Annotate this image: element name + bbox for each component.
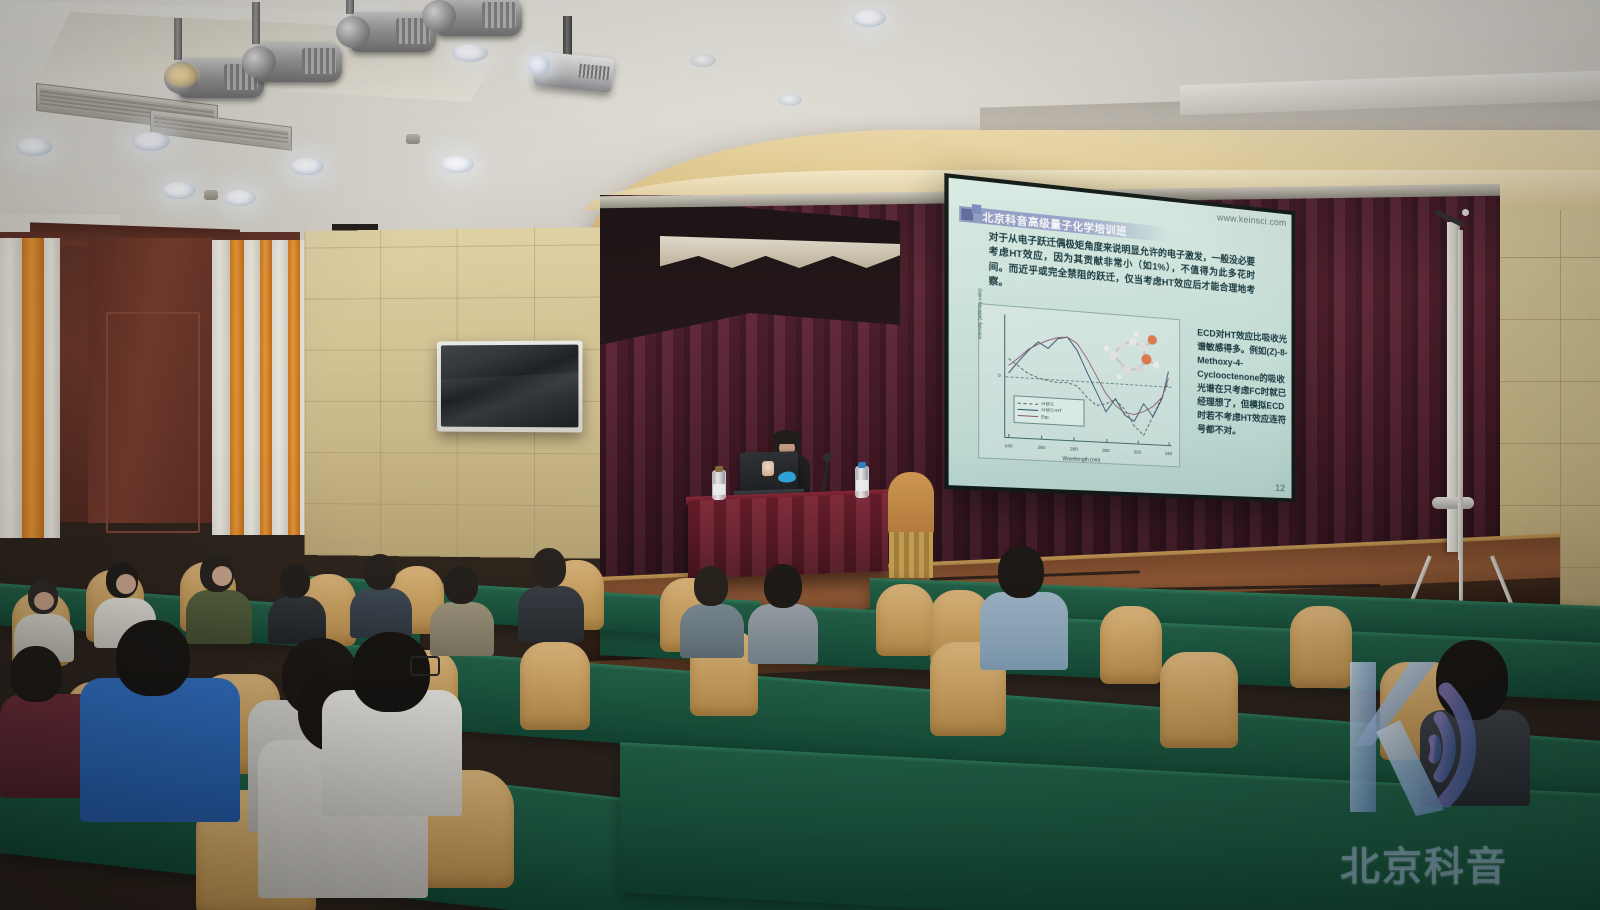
ceiling-downlight: [690, 54, 716, 67]
audience-chair[interactable]: [1290, 606, 1352, 688]
ceiling-downlight: [440, 156, 474, 173]
ceiling-downlight: [290, 158, 324, 175]
audience-chair[interactable]: [1100, 606, 1162, 684]
banner-square-icon: [972, 204, 981, 214]
ceiling-downlight: [16, 138, 52, 156]
ceiling-speaker: [204, 190, 218, 200]
slide-right-paragraph: ECD对HT效应比吸收光谱敏感得多。例如(Z)-8-Methoxy-4-Cycl…: [1197, 327, 1288, 441]
ceiling-downlight: [132, 132, 170, 151]
audience-person: [680, 566, 744, 654]
audience-person: [518, 548, 584, 638]
chart-legend: AH|FCAH|FC+HTExp.: [1014, 395, 1085, 426]
slide-url: www.keinsci.com: [1217, 212, 1287, 228]
chart-y-axis-label: Intensity (arbitrary units): [977, 288, 982, 339]
chart-plot-area: 0 240260280300320340 AH|FCAH|FC+HTExp.: [1004, 314, 1171, 446]
audience-chair[interactable]: [520, 642, 590, 730]
ceiling-downlight: [224, 190, 256, 206]
audience-person: [748, 564, 818, 660]
audience-person: [80, 620, 240, 820]
ceiling-speaker: [406, 134, 420, 144]
tv-screen: [441, 345, 578, 428]
photo-canvas: www.keinsci.com 北京科音高级量子化学培训班 对于从电子跃迁偶极矩…: [0, 0, 1600, 910]
legend-label: Exp.: [1041, 414, 1050, 421]
ceiling-downlight: [852, 10, 886, 27]
audience-area: [0, 470, 1600, 910]
audience-person: [322, 632, 462, 812]
screen-knob: [1462, 209, 1469, 216]
chart-x-axis-label: Wavelength (nm): [979, 452, 1179, 467]
presentation-slide: www.keinsci.com 北京科音高级量子化学培训班 对于从电子跃迁偶极矩…: [949, 178, 1292, 499]
audience-person: [268, 564, 326, 642]
projection-screen: www.keinsci.com 北京科音高级量子化学培训班 对于从电子跃迁偶极矩…: [944, 173, 1295, 502]
audience-person: [1420, 640, 1530, 800]
chart-y-tick-0: 0: [998, 372, 1001, 377]
molecule-structure-icon: [1095, 324, 1163, 387]
ceiling-downlight: [162, 182, 196, 199]
audience-person: [980, 546, 1068, 666]
projector-vent-grill: [578, 64, 609, 81]
audience-person: [350, 554, 412, 636]
audience-chair[interactable]: [1160, 652, 1238, 748]
ceiling-downlight: [778, 94, 802, 106]
ecd-spectrum-chart: Intensity (arbitrary units) Wavelength (…: [978, 303, 1180, 467]
slide-body-paragraph: 对于从电子跃迁偶极矩角度来说明显允许的电子激发，一般没必要考虑HT效应，因为其贡…: [989, 230, 1255, 311]
audience-chair[interactable]: [876, 584, 934, 656]
ceiling-downlight: [452, 44, 488, 62]
wall-mounted-tv[interactable]: [437, 341, 582, 433]
